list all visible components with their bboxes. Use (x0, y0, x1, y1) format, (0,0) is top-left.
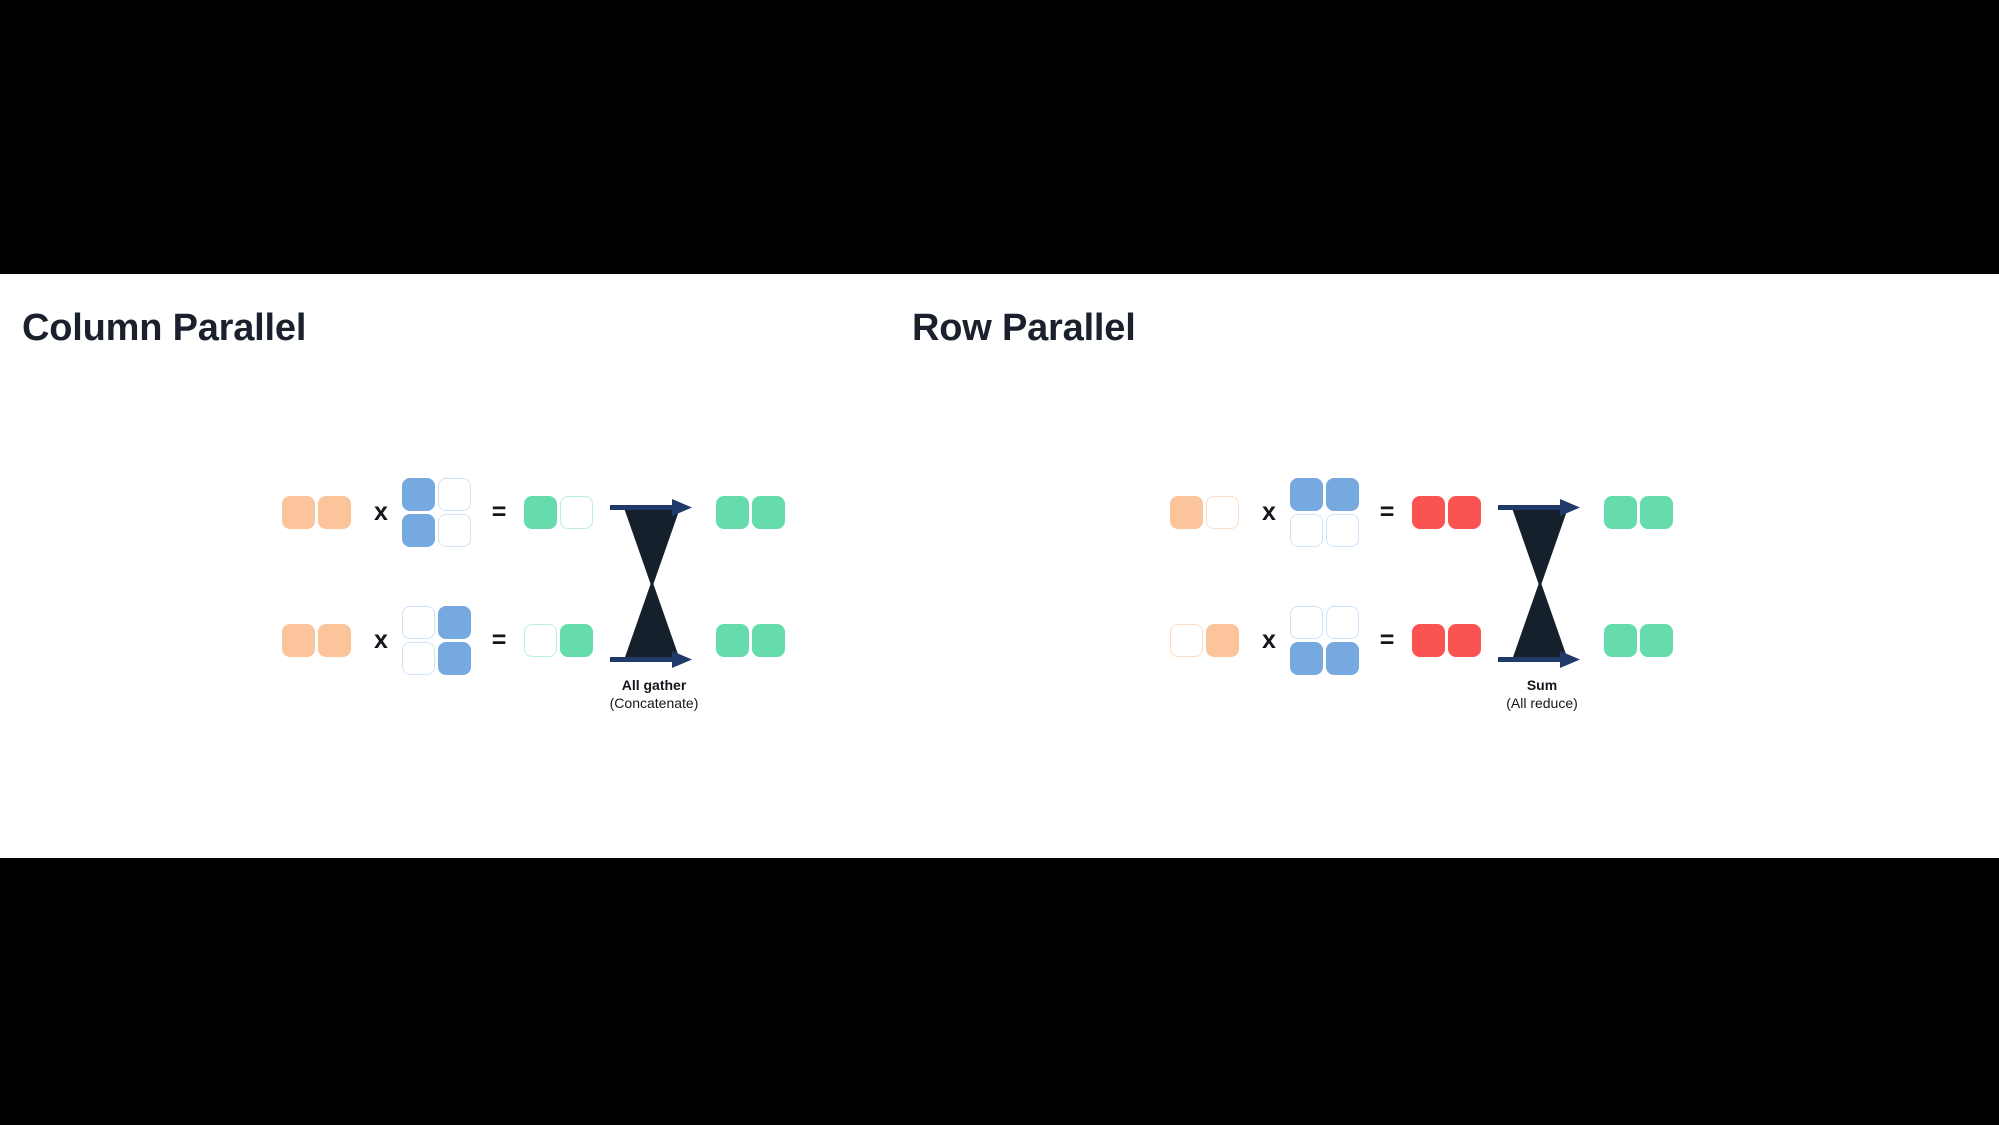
matrix-cell-filled (438, 606, 471, 639)
matrix-cell-filled (438, 642, 471, 675)
output-cell-filled (1604, 624, 1637, 657)
weight-matrix-row-1 (1290, 478, 1359, 547)
output-cell-filled (1640, 496, 1673, 529)
vector-cell-filled (282, 496, 315, 529)
final-output-column-1 (716, 496, 785, 529)
collective-label-column: All gather (Concatenate) (554, 676, 754, 712)
partial-output-row-2 (1412, 624, 1481, 657)
panel-title-row-parallel: Row Parallel (912, 307, 1136, 350)
vector-cell-empty (1206, 496, 1239, 529)
vector-cell-filled (1206, 624, 1239, 657)
matrix-cell-filled (402, 514, 435, 547)
output-cell-empty (524, 624, 557, 657)
weight-matrix-column-2 (402, 606, 471, 675)
matrix-cell-empty (1326, 514, 1359, 547)
input-vector-column-1 (282, 496, 351, 529)
output-cell-partial (1412, 624, 1445, 657)
multiply-symbol-row-1: x (1256, 496, 1282, 529)
matrix-cell-filled (1290, 478, 1323, 511)
vector-cell-filled (282, 624, 315, 657)
weight-matrix-column-1 (402, 478, 471, 547)
matrix-cell-empty (1326, 606, 1359, 639)
equals-symbol-row-2: = (1374, 624, 1400, 657)
input-vector-row-1 (1170, 496, 1239, 529)
equals-symbol-column-1: = (486, 496, 512, 529)
vector-cell-empty (1170, 624, 1203, 657)
matrix-cell-empty (1290, 606, 1323, 639)
vector-cell-filled (318, 496, 351, 529)
matrix-cell-filled (1326, 478, 1359, 511)
collective-detail-column: (Concatenate) (554, 694, 754, 712)
matrix-cell-empty (438, 514, 471, 547)
slide-canvas: Column Parallel x = (0, 274, 1999, 858)
output-cell-filled (716, 624, 749, 657)
multiply-symbol-column-2: x (368, 624, 394, 657)
input-vector-row-2 (1170, 624, 1239, 657)
matrix-cell-filled (402, 478, 435, 511)
vector-cell-filled (1170, 496, 1203, 529)
partial-output-column-1 (524, 496, 593, 529)
bowtie-allgather-icon (610, 496, 698, 672)
partial-output-column-2 (524, 624, 593, 657)
matrix-cell-empty (1290, 514, 1323, 547)
output-cell-filled (716, 496, 749, 529)
multiply-symbol-row-2: x (1256, 624, 1282, 657)
collective-detail-row: (All reduce) (1442, 694, 1642, 712)
collective-label-row: Sum (All reduce) (1442, 676, 1642, 712)
final-output-row-1 (1604, 496, 1673, 529)
collective-name-row: Sum (1442, 676, 1642, 694)
output-cell-partial (1448, 496, 1481, 529)
output-cell-partial (1448, 624, 1481, 657)
panel-column-parallel: Column Parallel x = (0, 274, 900, 858)
output-cell-filled (1604, 496, 1637, 529)
output-cell-filled (752, 624, 785, 657)
partial-output-row-1 (1412, 496, 1481, 529)
matrix-cell-filled (1326, 642, 1359, 675)
equals-symbol-row-1: = (1374, 496, 1400, 529)
output-cell-filled (560, 624, 593, 657)
matrix-cell-empty (402, 606, 435, 639)
output-cell-filled (524, 496, 557, 529)
letterbox-bottom (0, 858, 1999, 1125)
input-vector-column-2 (282, 624, 351, 657)
weight-matrix-row-2 (1290, 606, 1359, 675)
panel-title-column-parallel: Column Parallel (22, 307, 306, 350)
matrix-cell-filled (1290, 642, 1323, 675)
collective-name-column: All gather (554, 676, 754, 694)
equals-symbol-column-2: = (486, 624, 512, 657)
panel-row-parallel: Row Parallel x = (888, 274, 1788, 858)
final-output-row-2 (1604, 624, 1673, 657)
matrix-cell-empty (402, 642, 435, 675)
output-cell-empty (560, 496, 593, 529)
multiply-symbol-column-1: x (368, 496, 394, 529)
final-output-column-2 (716, 624, 785, 657)
output-cell-filled (1640, 624, 1673, 657)
matrix-cell-empty (438, 478, 471, 511)
output-cell-partial (1412, 496, 1445, 529)
output-cell-filled (752, 496, 785, 529)
vector-cell-filled (318, 624, 351, 657)
bowtie-allreduce-icon (1498, 496, 1586, 672)
letterbox-top (0, 0, 1999, 274)
